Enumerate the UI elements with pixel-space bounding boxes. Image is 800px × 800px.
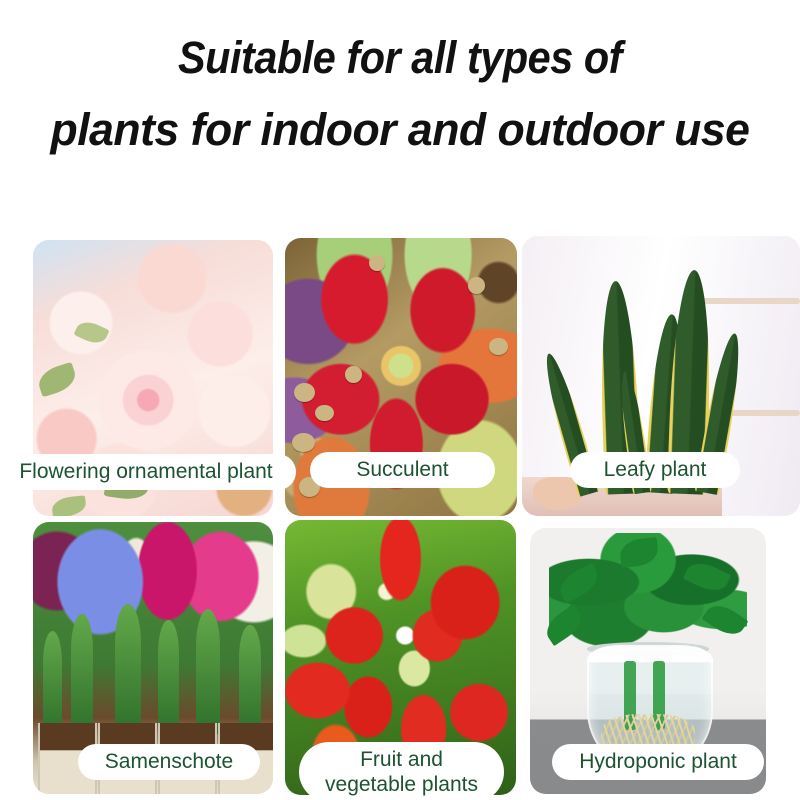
- label-succulent: Succulent: [310, 452, 495, 488]
- label-fruit-and-vegetable-plants: Fruit and vegetable plants: [299, 742, 504, 800]
- label-flowering-ornamental-plant: Flowering ornamental plant: [0, 454, 296, 490]
- label-samenschote: Samenschote: [78, 744, 260, 780]
- label-text: Succulent: [356, 458, 448, 481]
- promo-image: Suitable for all types of plants for ind…: [0, 0, 800, 800]
- plant-type-grid: Flowering ornamental plant Succulent: [0, 0, 800, 800]
- label-leafy-plant: Leafy plant: [570, 452, 740, 488]
- label-hydroponic-plant: Hydroponic plant: [552, 744, 764, 780]
- label-text: Leafy plant: [604, 458, 707, 481]
- label-text: Hydroponic plant: [579, 750, 737, 773]
- label-text: Samenschote: [105, 750, 233, 773]
- label-text: Fruit and vegetable plants: [325, 748, 478, 796]
- label-text: Flowering ornamental plant: [19, 460, 272, 483]
